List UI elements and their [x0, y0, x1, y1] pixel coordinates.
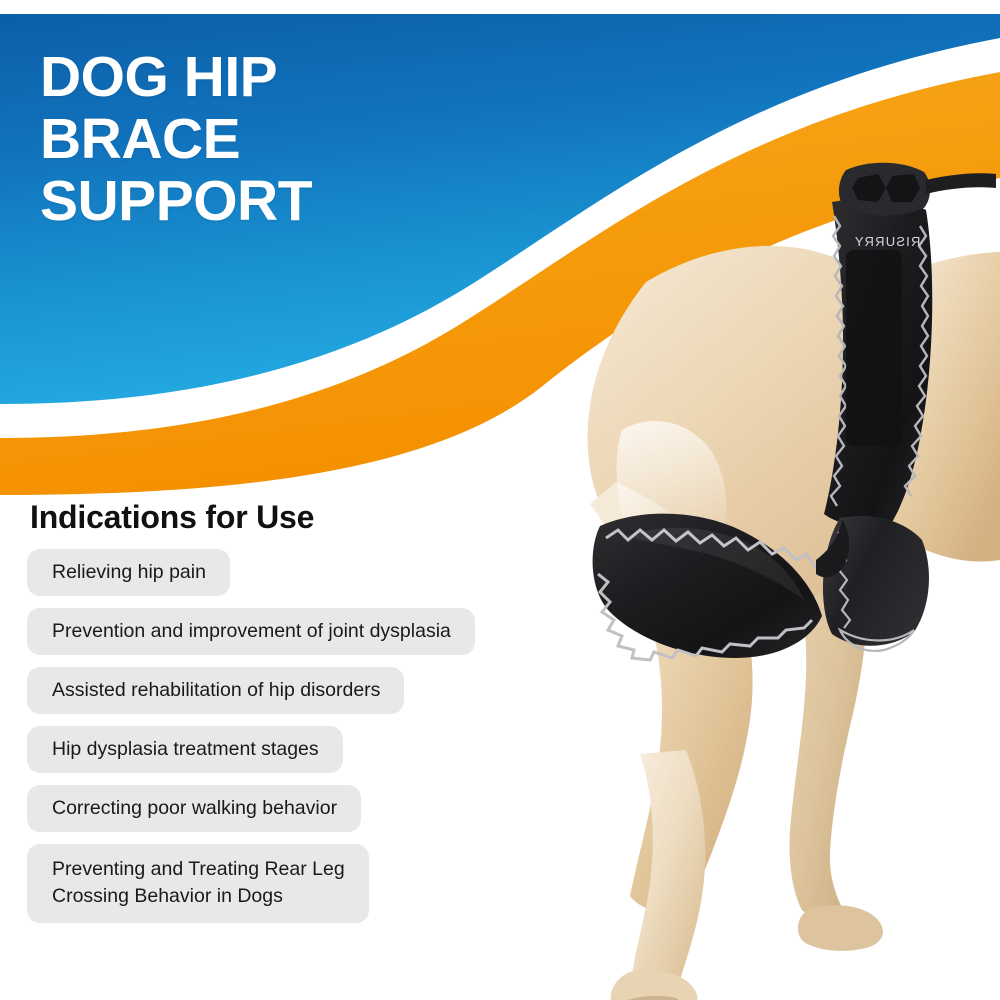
dog-near-paw	[611, 971, 698, 1000]
indications-heading: Indications for Use	[30, 498, 520, 536]
headline-line-2: BRACE	[40, 108, 500, 170]
indication-item: Relieving hip pain	[27, 549, 230, 596]
product-infographic: DOG HIP BRACE SUPPORT	[0, 0, 1000, 1000]
brace-dorsal-panel	[846, 250, 902, 446]
indication-item: Prevention and improvement of joint dysp…	[27, 608, 475, 655]
headline-line-1: DOG HIP	[40, 46, 500, 108]
headline-line-3: SUPPORT	[40, 170, 500, 232]
indication-item: Correcting poor walking behavior	[27, 785, 361, 832]
indication-item: Preventing and Treating Rear Leg Crossin…	[27, 844, 369, 923]
buckle-tail-strap	[926, 173, 996, 194]
indication-item: Hip dysplasia treatment stages	[27, 726, 343, 773]
product-photo: RISURRY	[440, 130, 1000, 1000]
page-title: DOG HIP BRACE SUPPORT	[40, 46, 500, 232]
indications-list: Relieving hip pain Prevention and improv…	[0, 549, 520, 923]
dog-wearing-brace-illustration: RISURRY	[440, 130, 1000, 1000]
brace-brand-label: RISURRY	[854, 234, 921, 249]
dog-far-paw	[798, 905, 883, 951]
brace-buckle	[839, 163, 996, 216]
indications-section: Indications for Use Relieving hip pain P…	[0, 498, 520, 935]
indication-item: Assisted rehabilitation of hip disorders	[27, 667, 404, 714]
